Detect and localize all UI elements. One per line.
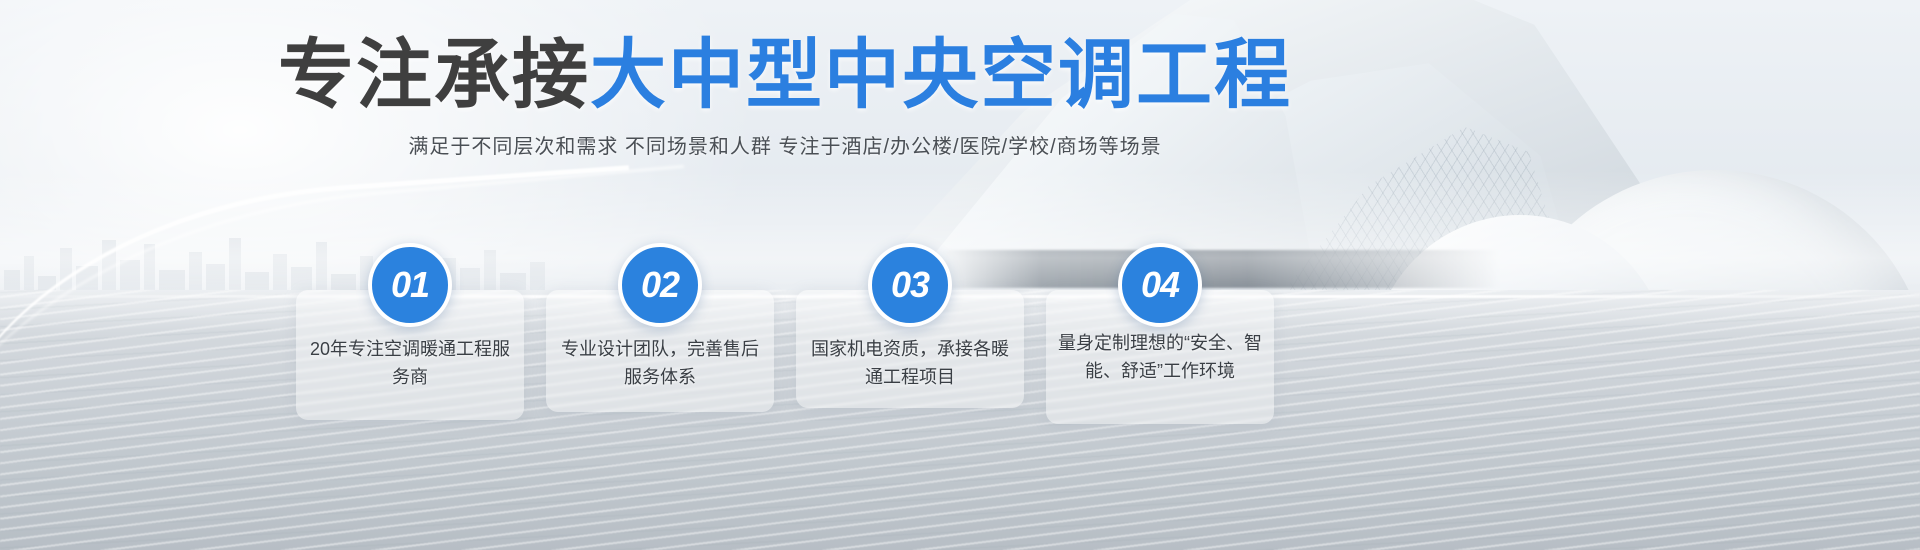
- feature-text-03: 国家机电资质，承接各暖通工程项目: [808, 336, 1012, 392]
- feature-card-02[interactable]: 02 专业设计团队，完善售后服务体系: [546, 290, 774, 412]
- feature-card-04[interactable]: 04 量身定制理想的“安全、智能、舒适”工作环境: [1046, 290, 1274, 424]
- feature-badge-02: 02: [618, 243, 702, 327]
- feature-text-02: 专业设计团队，完善售后服务体系: [558, 336, 762, 392]
- feature-text-01: 20年专注空调暖通工程服务商: [308, 336, 512, 392]
- feature-badge-01: 01: [368, 243, 452, 327]
- feature-badge-04: 04: [1118, 243, 1202, 327]
- banner-title: 专注承接大中型中央空调工程: [0, 38, 1570, 114]
- feature-badge-03: 03: [868, 243, 952, 327]
- feature-card-01[interactable]: 01 20年专注空调暖通工程服务商: [296, 290, 524, 420]
- banner-title-highlight: 大中型中央空调工程: [590, 33, 1292, 118]
- banner-subtitle: 满足于不同层次和需求 不同场景和人群 专注于酒店/办公楼/医院/学校/商场等场景: [0, 130, 1570, 159]
- feature-text-04: 量身定制理想的“安全、智能、舒适”工作环境: [1058, 330, 1262, 386]
- banner-content: 专注承接大中型中央空调工程 满足于不同层次和需求 不同场景和人群 专注于酒店/办…: [0, 0, 1920, 550]
- banner-title-dark: 专注承接: [278, 33, 590, 118]
- hero-banner: 专注承接大中型中央空调工程 满足于不同层次和需求 不同场景和人群 专注于酒店/办…: [0, 0, 1920, 550]
- feature-card-list: 01 20年专注空调暖通工程服务商 02 专业设计团队，完善售后服务体系 03 …: [296, 290, 1276, 430]
- feature-card-03[interactable]: 03 国家机电资质，承接各暖通工程项目: [796, 290, 1024, 408]
